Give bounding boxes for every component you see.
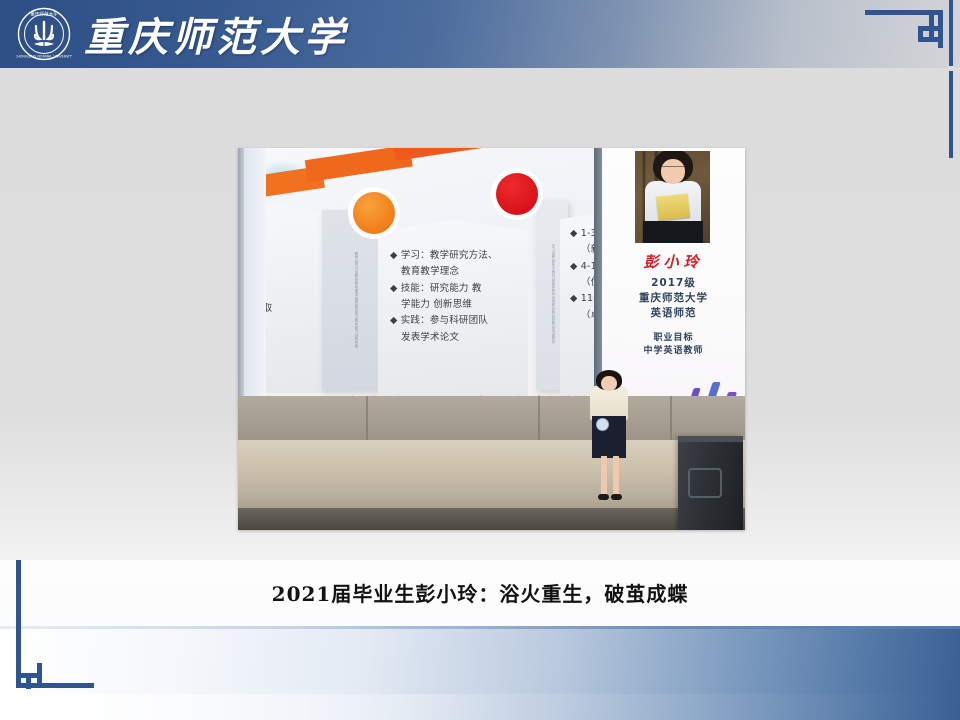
orange-stage-dot	[353, 192, 395, 234]
header-vertical-rule	[949, 0, 953, 158]
loudspeaker-icon	[678, 436, 743, 530]
poster-major: 英语师范	[602, 305, 745, 320]
poster-university: 重庆师范大学	[602, 290, 745, 305]
book-icon	[656, 193, 690, 220]
presenter-badge	[596, 418, 609, 431]
header-rule-gap	[947, 66, 955, 71]
student-portrait-photo	[635, 151, 710, 243]
presentation-slide: 重庆师范大学 CHONGQING NORMAL UNIVERSITY 重庆师范大…	[0, 0, 960, 720]
university-seal-icon: 重庆师范大学 CHONGQING NORMAL UNIVERSITY	[16, 6, 72, 62]
slide-caption: 2021届毕业生彭小玲：浴火重生，破茧成蝶	[0, 578, 960, 607]
svg-text:CHONGQING NORMAL UNIVERSITY: CHONGQING NORMAL UNIVERSITY	[16, 55, 72, 59]
bottom-gradient-band	[0, 629, 960, 720]
slide-header: 重庆师范大学 CHONGQING NORMAL UNIVERSITY 重庆师范大…	[0, 0, 960, 68]
vertical-micro-text: 教学研究方法教育教学理念技能研究能力教学能力创新思维	[350, 252, 359, 376]
poster-student-name: 彭小玲	[602, 251, 745, 272]
projection-screen: 步 技能 力 考取 ◆ 学习：教学研究方法、 教育教学理念 ◆ 技能：研究能力 …	[238, 148, 745, 396]
red-stage-dot	[496, 173, 538, 215]
page-title: 重庆师范大学	[84, 3, 348, 65]
poster-class-year: 2017级	[602, 275, 745, 290]
screen-left-pale	[244, 148, 266, 396]
vertical-micro-text-2: 学习型教师新手教师创新型教师优秀教师教研型教师卓越教师	[547, 244, 556, 374]
poster-goal-value: 中学英语教师	[602, 343, 745, 356]
svg-text:重庆师范大学: 重庆师范大学	[30, 11, 58, 18]
poster-goal-label: 职业目标	[602, 330, 745, 343]
stage-photo: 步 技能 力 考取 ◆ 学习：教学研究方法、 教育教学理念 ◆ 技能：研究能力 …	[238, 148, 745, 530]
card-graduate-stage-text: ◆ 学习：教学研究方法、 教育教学理念 ◆ 技能：研究能力 教 学能力 创新思维…	[390, 248, 526, 346]
glasses-icon	[662, 166, 684, 173]
stage-floor-shadow	[238, 508, 745, 530]
stage-wall	[238, 396, 745, 440]
